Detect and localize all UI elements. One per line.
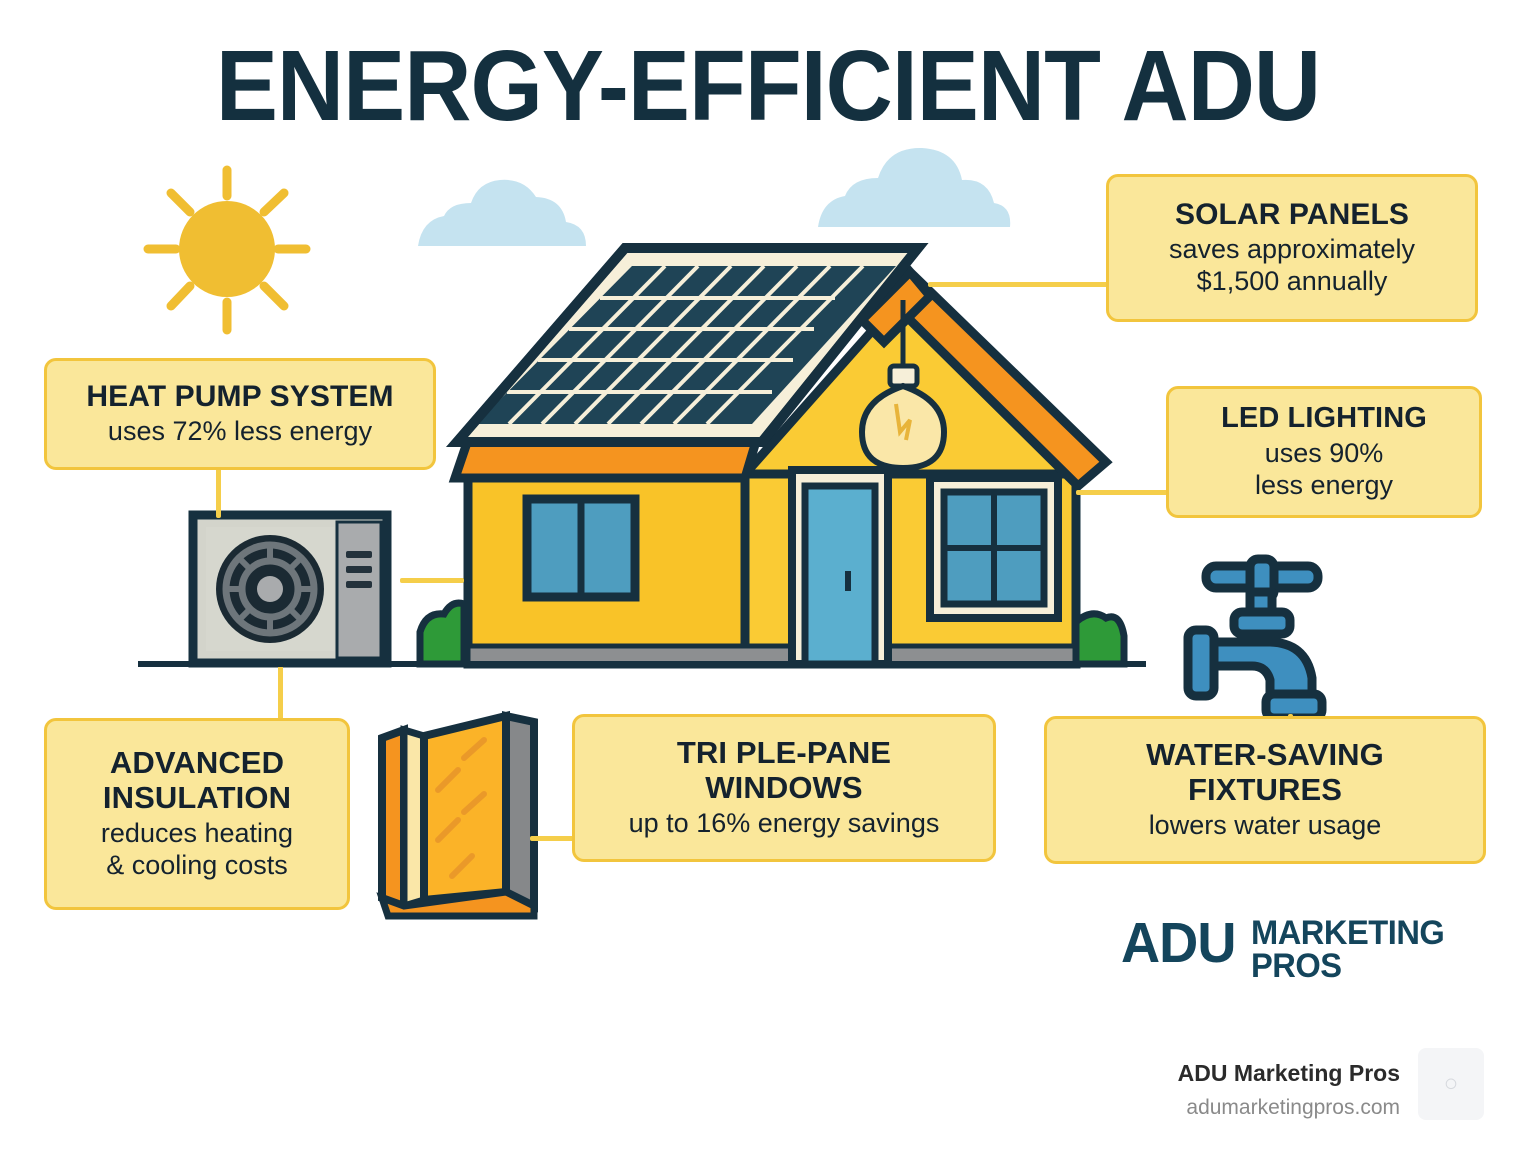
faucet-icon (1188, 559, 1322, 718)
callout-title: LED LIGHTING (1221, 402, 1427, 434)
infographic-canvas: ENERGY-EFFICIENT ADU (0, 0, 1536, 1154)
logo-stacked-text: MARKETING PROS (1251, 917, 1452, 982)
bush-left (420, 603, 464, 664)
callout-solar-panels[interactable]: SOLAR PANELS saves approximately $1,500 … (1106, 174, 1478, 322)
footer-company-name: ADU Marketing Pros (1178, 1060, 1400, 1087)
callout-subtitle: uses 72% less energy (108, 416, 372, 448)
connector-solar (928, 282, 1110, 287)
footer-badge-icon: ○ (1418, 1070, 1484, 1098)
footer-website-url: adumarketingpros.com (1186, 1096, 1400, 1120)
bush-right (1076, 614, 1124, 664)
connector-insulation (278, 663, 283, 721)
sun-icon (148, 170, 306, 330)
brand-logo: ADU MARKETING PROS (1118, 916, 1452, 982)
page-title: ENERGY-EFFICIENT ADU (54, 36, 1482, 136)
triple-pane-window-icon (382, 716, 534, 916)
connector-windows (530, 836, 576, 841)
footer-avatar-badge: ○ (1418, 1048, 1484, 1120)
callout-title: TRI PLE-PANE WINDOWS (677, 736, 891, 805)
house-illustration (420, 248, 1124, 664)
callout-title: HEAT PUMP SYSTEM (86, 380, 393, 414)
callout-heat-pump-system[interactable]: HEAT PUMP SYSTEM uses 72% less energy (44, 358, 436, 470)
callout-triple-pane-windows[interactable]: TRI PLE-PANE WINDOWS up to 16% energy sa… (572, 714, 996, 862)
callout-advanced-insulation[interactable]: ADVANCED INSULATION reduces heating & co… (44, 718, 350, 910)
callout-subtitle: uses 90% less energy (1255, 438, 1393, 502)
callout-subtitle: lowers water usage (1149, 810, 1382, 842)
logo-line-pros: PROS (1251, 950, 1444, 983)
callout-water-saving-fixtures[interactable]: WATER-SAVING FIXTURES lowers water usage (1044, 716, 1486, 864)
connector-led (1076, 490, 1168, 495)
connector-heatpump-house (400, 578, 464, 583)
callout-subtitle: reduces heating & cooling costs (101, 818, 293, 882)
cloud-icon-left (418, 180, 586, 246)
logo-primary-text: ADU (1121, 916, 1235, 970)
callout-title: WATER-SAVING FIXTURES (1146, 738, 1384, 807)
callout-title: ADVANCED INSULATION (103, 746, 291, 815)
ground-line (138, 661, 1146, 667)
heat-pump-unit (193, 515, 387, 663)
callout-led-lighting[interactable]: LED LIGHTING uses 90% less energy (1166, 386, 1482, 518)
logo-line-marketing: MARKETING (1251, 917, 1444, 950)
connector-heatpump (216, 468, 221, 518)
cloud-icon-right (818, 148, 1010, 227)
callout-subtitle: up to 16% energy savings (629, 808, 940, 840)
callout-subtitle: saves approximately $1,500 annually (1169, 234, 1415, 298)
callout-title: SOLAR PANELS (1175, 198, 1409, 232)
light-bulb-icon (862, 300, 944, 468)
